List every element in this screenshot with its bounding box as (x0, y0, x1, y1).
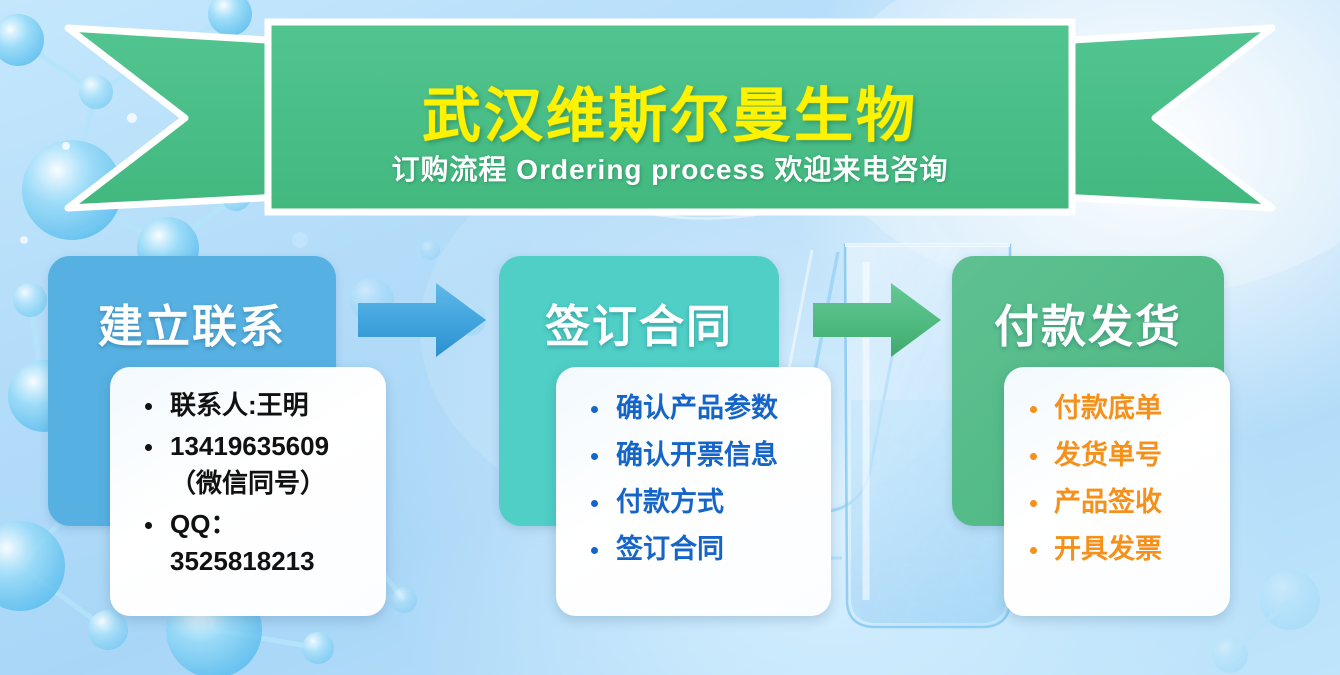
step-3-list: 付款底单 发货单号 产品签收 开具发票 (1004, 385, 1230, 573)
list-item: 联系人:王明 (142, 387, 376, 424)
step-2-list: 确认产品参数 确认开票信息 付款方式 签订合同 (556, 385, 831, 573)
list-item: 签订合同 (588, 526, 821, 573)
banner-text-block: 武汉维斯尔曼生物 订购流程 Ordering process 欢迎来电咨询 (268, 22, 1072, 212)
banner-title: 武汉维斯尔曼生物 (268, 68, 1072, 153)
banner-canvas: 武汉维斯尔曼生物 订购流程 Ordering process 欢迎来电咨询 建立… (0, 0, 1340, 675)
list-item: 开具发票 (1028, 526, 1222, 573)
step-1-heading-label: 建立联系 (48, 290, 336, 355)
list-item: 付款方式 (588, 479, 821, 526)
list-item: 13419635609 （微信同号） (142, 428, 376, 502)
step-3-heading-label: 付款发货 (952, 290, 1224, 355)
list-item: 确认开票信息 (588, 432, 821, 479)
step-2-detail-box: 确认产品参数 确认开票信息 付款方式 签订合同 (556, 367, 831, 616)
step-3-detail-box: 付款底单 发货单号 产品签收 开具发票 (1004, 367, 1230, 616)
step-1-detail-box: 联系人:王明 13419635609 （微信同号） QQ： 3525818213 (110, 367, 386, 616)
list-item: QQ： 3525818213 (142, 506, 376, 580)
list-item: 确认产品参数 (588, 385, 821, 432)
step-1-list: 联系人:王明 13419635609 （微信同号） QQ： 3525818213 (110, 387, 386, 584)
step-2-heading-label: 签订合同 (499, 290, 779, 355)
arrow-step2-to-step3-icon (811, 281, 943, 359)
arrow-step1-to-step2-icon (356, 281, 488, 359)
list-item: 发货单号 (1028, 432, 1222, 479)
list-item: 产品签收 (1028, 479, 1222, 526)
banner-subtitle: 订购流程 Ordering process 欢迎来电咨询 (268, 148, 1072, 188)
list-item: 付款底单 (1028, 385, 1222, 432)
